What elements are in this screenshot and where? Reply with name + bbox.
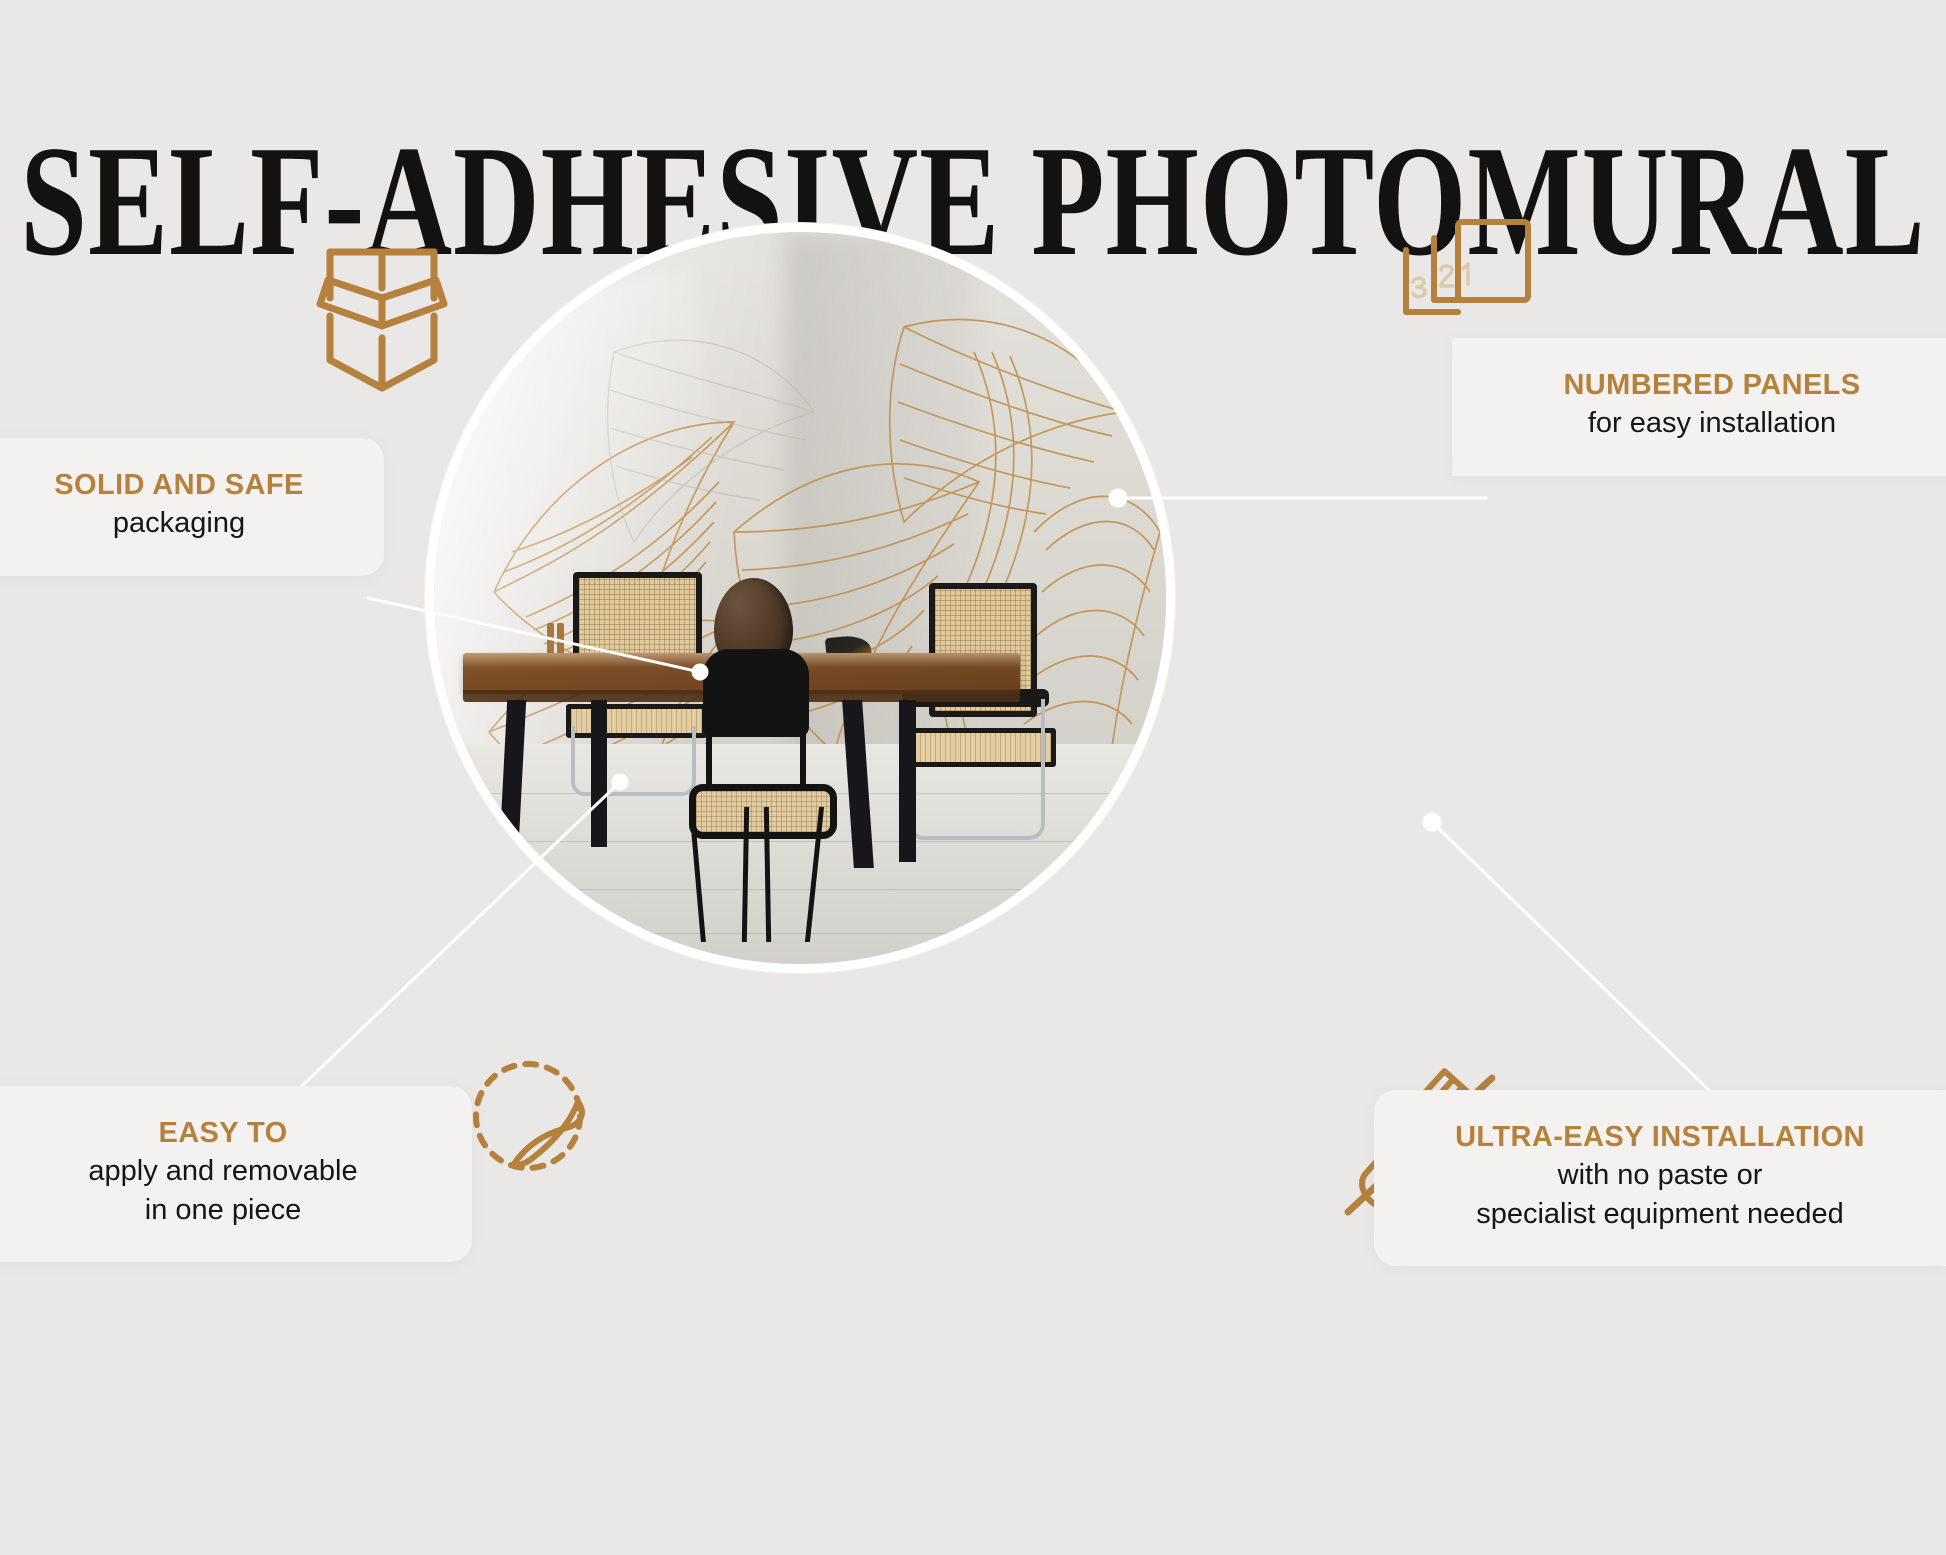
black-chair-front [683,649,829,942]
infographic-stage: SELF-ADHESIVE PHOTOMURAL [0,0,1946,1555]
feature-title-packaging: SOLID AND SAFE [18,468,340,503]
candle-holders [547,623,565,655]
cane-armchair-right [902,583,1048,847]
peel-off-icon [466,1048,606,1188]
feature-title-easy: EASY TO [18,1116,428,1151]
feature-card-install[interactable]: ULTRA-EASY INSTALLATION with no paste or… [1374,1090,1946,1266]
numbered-panels-icon [1396,212,1546,356]
feature-title-panels: NUMBERED PANELS [1496,368,1928,403]
feature-subtitle-install-line1: with no paste or [1418,1157,1902,1194]
table-leg [899,700,917,861]
open-box-icon [312,240,452,400]
feature-subtitle-easy-line2: in one piece [18,1192,428,1229]
feature-card-packaging[interactable]: SOLID AND SAFE packaging [0,438,384,576]
feature-subtitle-packaging: packaging [18,505,340,542]
feature-card-easy[interactable]: EASY TO apply and removable in one piece [0,1086,472,1262]
feature-subtitle-panels: for easy installation [1496,405,1928,442]
feature-subtitle-install-line2: specialist equipment needed [1418,1196,1902,1233]
dining-room-scene [434,232,1166,964]
feature-subtitle-easy-line1: apply and removable [18,1153,428,1190]
feature-card-panels[interactable]: NUMBERED PANELS for easy installation [1452,338,1946,476]
hero-circle-image [434,232,1166,964]
feature-title-install: ULTRA-EASY INSTALLATION [1418,1120,1902,1155]
table-leg [591,700,607,846]
